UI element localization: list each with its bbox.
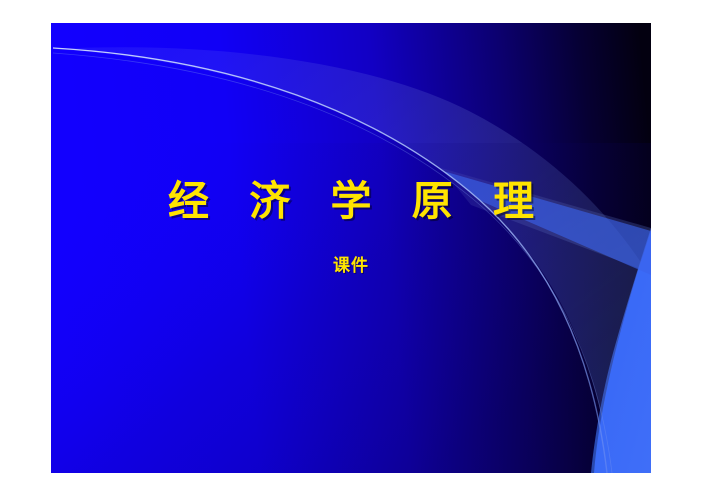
title-slide: 经 济 学 原 理 课件 bbox=[51, 23, 651, 473]
slide-background-graphic bbox=[51, 23, 651, 473]
presentation-screen: 经 济 学 原 理 课件 bbox=[0, 0, 702, 496]
